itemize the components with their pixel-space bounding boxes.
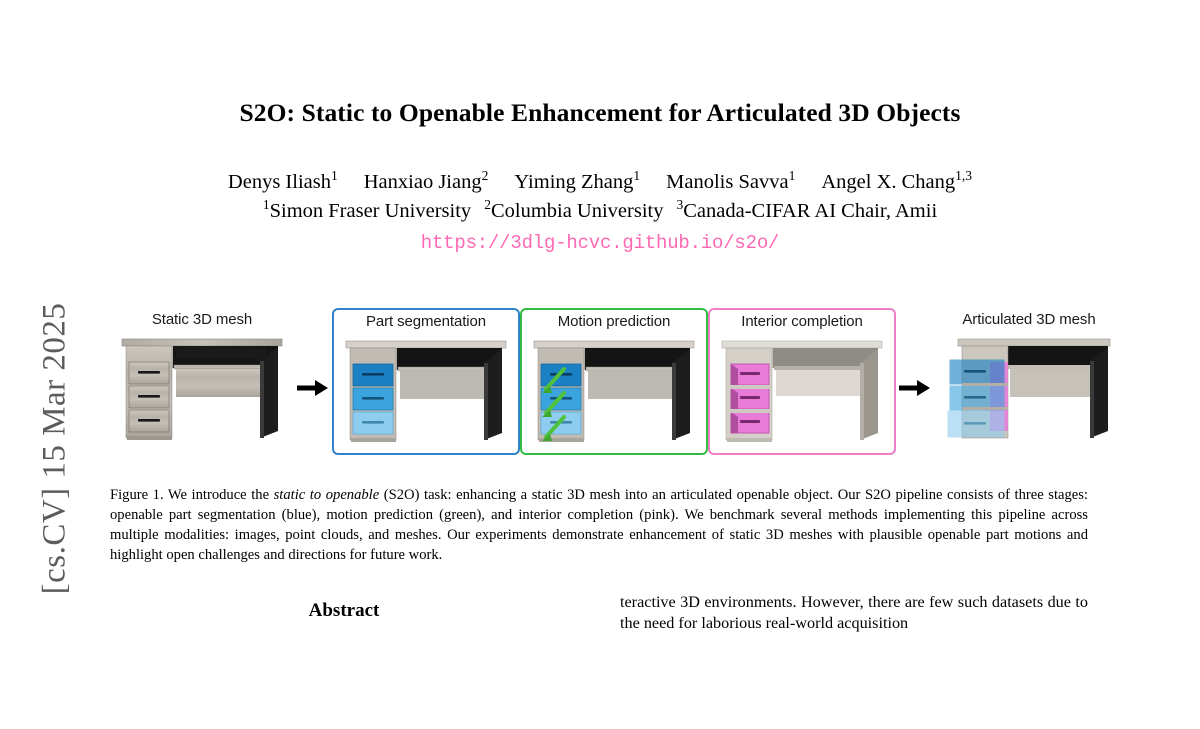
panel-label-articulated: Articulated 3D mesh	[962, 311, 1095, 328]
authors-block: Denys Iliash1Hanxiao Jiang2Yiming Zhang1…	[110, 168, 1090, 225]
body-column-right: teractive 3D environments. However, ther…	[620, 592, 1088, 652]
figure-panel-interior-completion: Interior completion	[708, 308, 896, 455]
author-name: Hanxiao Jiang	[364, 171, 482, 193]
project-url-link[interactable]: https://3dlg-hcvc.github.io/s2o/	[110, 232, 1090, 254]
panel-box-part-segmentation: Part segmentation	[332, 308, 520, 455]
panel-label-part-segmentation: Part segmentation	[366, 313, 486, 330]
figure-panel-part-segmentation: Part segmentation	[332, 308, 520, 455]
figure-panel-articulated: Articulated 3D mesh	[934, 308, 1124, 451]
affiliation-row: 1Simon Fraser University2Columbia Univer…	[110, 197, 1090, 225]
figure-panel-motion-prediction: Motion prediction	[520, 308, 708, 455]
panel-box-motion-prediction: Motion prediction	[520, 308, 708, 455]
author-name: Yiming Zhang	[514, 171, 633, 193]
arxiv-stamp-text: [cs.CV] 15 Mar 2025	[37, 169, 74, 729]
pipeline-arrow	[896, 308, 934, 478]
affiliation-name: Canada-CIFAR AI Chair, Amii	[683, 200, 937, 222]
author-row: Denys Iliash1Hanxiao Jiang2Yiming Zhang1…	[110, 168, 1090, 196]
desk-render-articulated	[940, 331, 1118, 446]
panel-label-static: Static 3D mesh	[152, 311, 252, 328]
author-name: Denys Iliash	[228, 171, 331, 193]
author-entry: Manolis Savva1	[666, 171, 795, 193]
desk-render-motion-prediction	[528, 333, 700, 448]
author-affil-marker: 2	[482, 168, 489, 183]
author-entry: Yiming Zhang1	[514, 171, 640, 193]
affiliation-name: Simon Fraser University	[270, 200, 472, 222]
author-affil-marker: 1	[789, 168, 796, 183]
author-entry: Angel X. Chang1,3	[821, 171, 972, 193]
author-affil-marker: 1	[331, 168, 338, 183]
author-affil-marker: 1	[633, 168, 640, 183]
paper-page: S2O: Static to Openable Enhancement for …	[110, 0, 1090, 648]
affiliation-entry: 3Canada-CIFAR AI Chair, Amii	[676, 200, 937, 222]
caption-prefix: Figure 1. We introduce the	[110, 487, 274, 503]
affiliation-entry: 2Columbia University	[484, 200, 663, 222]
desk-render-part-segmentation	[340, 333, 512, 448]
caption-italic-term: static to openable	[274, 487, 380, 503]
figure-1: Static 3D mesh	[110, 308, 1090, 478]
author-name: Angel X. Chang	[821, 171, 955, 193]
figure-panel-static: Static 3D mesh	[110, 308, 294, 451]
abstract-heading: Abstract	[110, 600, 578, 622]
affiliation-entry: 1Simon Fraser University	[263, 200, 471, 222]
author-affil-marker: 1,3	[955, 168, 972, 183]
pipeline-arrow	[294, 308, 332, 478]
desk-render-static	[116, 331, 288, 446]
affiliation-marker: 1	[263, 197, 270, 212]
body-paragraph-right: teractive 3D environments. However, ther…	[620, 592, 1088, 634]
page-title: S2O: Static to Openable Enhancement for …	[110, 0, 1090, 127]
panel-box-static: Static 3D mesh	[110, 308, 294, 451]
desk-render-interior-completion	[716, 333, 888, 448]
panel-box-interior-completion: Interior completion	[708, 308, 896, 455]
author-name: Manolis Savva	[666, 171, 788, 193]
panel-label-interior-completion: Interior completion	[741, 313, 863, 330]
panel-box-articulated: Articulated 3D mesh	[934, 308, 1124, 451]
affiliation-marker: 2	[484, 197, 491, 212]
author-entry: Denys Iliash1	[228, 171, 338, 193]
author-entry: Hanxiao Jiang2	[364, 171, 489, 193]
panel-label-motion-prediction: Motion prediction	[558, 313, 671, 330]
arxiv-side-stamp: [cs.CV] 15 Mar 2025	[0, 0, 90, 648]
body-column-left: Abstract	[110, 592, 578, 652]
body-columns: Abstract teractive 3D environments. Howe…	[110, 592, 1088, 652]
affiliation-name: Columbia University	[491, 200, 664, 222]
figure-caption: Figure 1. We introduce the static to ope…	[110, 486, 1088, 566]
